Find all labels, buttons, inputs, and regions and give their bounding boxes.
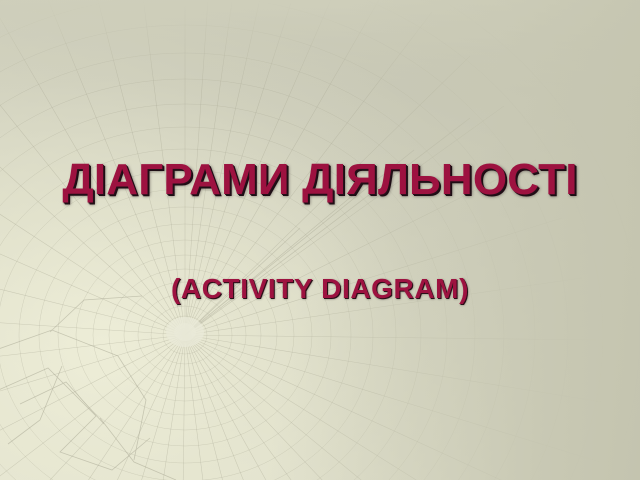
title-slide: ДІАГРАМИ ДІЯЛЬНОСТІ (ACTIVITY DIAGRAM): [0, 0, 640, 480]
page-subtitle: (ACTIVITY DIAGRAM): [0, 275, 640, 303]
page-title: ДІАГРАМИ ДІЯЛЬНОСТІ: [0, 158, 640, 202]
slide-text-container: ДІАГРАМИ ДІЯЛЬНОСТІ (ACTIVITY DIAGRAM): [0, 0, 640, 480]
